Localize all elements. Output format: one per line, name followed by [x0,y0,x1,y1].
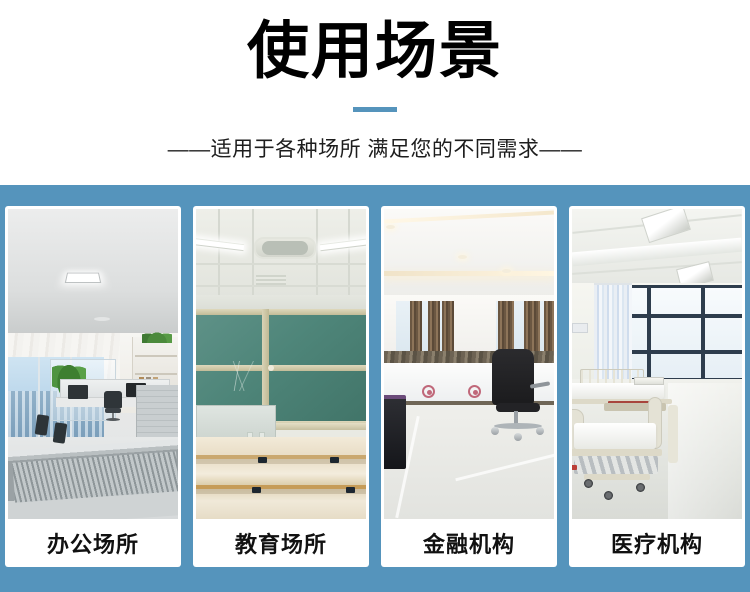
scenario-label-medical: 医疗机构 [572,519,742,567]
scenario-card-education[interactable]: 教育场所 [193,206,369,567]
bank-downlight-icon [502,269,511,273]
scenario-card-office[interactable]: 办公场所 [5,206,181,567]
classroom-fan-icon [256,275,286,285]
page-header: 使用场景 ——适用于各种场所 满足您的不同需求—— [0,0,750,185]
bank-emblem-icon [468,385,481,398]
page-subtitle: ——适用于各种场所 满足您的不同需求—— [0,135,750,165]
office-chair-icon [104,391,122,421]
scenario-card-medical[interactable]: 医疗机构 [569,206,745,567]
title-divider [353,107,397,112]
scenario-label-education: 教育场所 [196,519,366,567]
bank-emblem-icon [422,385,435,398]
office-shelf-plant-icon [142,327,172,343]
hospital-curtain-icon [594,283,632,381]
bank-cove-light-icon [384,271,554,276]
classroom-ac-grille-icon [262,241,308,255]
bank-office-chair-icon [492,349,550,445]
office-ceiling-icon [8,209,178,334]
classroom-desks [196,437,366,519]
office-panel-light-icon [65,273,101,283]
scenario-card-list: 办公场所 [5,206,745,567]
hospital-window [628,285,742,381]
office-monitor-icon [68,385,88,399]
bank-photo [384,209,554,519]
classroom-photo [196,209,366,519]
bank-downlight-icon [386,225,395,229]
scenario-label-office: 办公场所 [8,519,178,567]
office-reception-counter [8,439,178,519]
scenario-card-finance[interactable]: 金融机构 [381,206,557,567]
office-cabinet [136,385,178,439]
office-downlight-icon [94,317,110,321]
bank-curtain-icon [498,301,514,353]
page-title: 使用场景 [0,16,750,88]
scenario-label-finance: 金融机构 [384,519,554,567]
hospital-iv-pole-icon [668,405,678,463]
bank-downlight-icon [458,255,467,259]
bank-curtain-icon [442,301,454,353]
bank-curtain-icon [410,301,422,353]
bank-curtain-icon [544,301,554,353]
scenarios-band: 办公场所 [0,185,750,592]
hospital-wall-sign [572,323,588,333]
hospital-photo [572,209,742,519]
bank-curtain-icon [428,301,440,353]
bank-ceiling [384,209,554,297]
bank-kiosk [384,395,406,469]
office-photo [8,209,178,519]
bank-curtain-icon [524,301,540,353]
